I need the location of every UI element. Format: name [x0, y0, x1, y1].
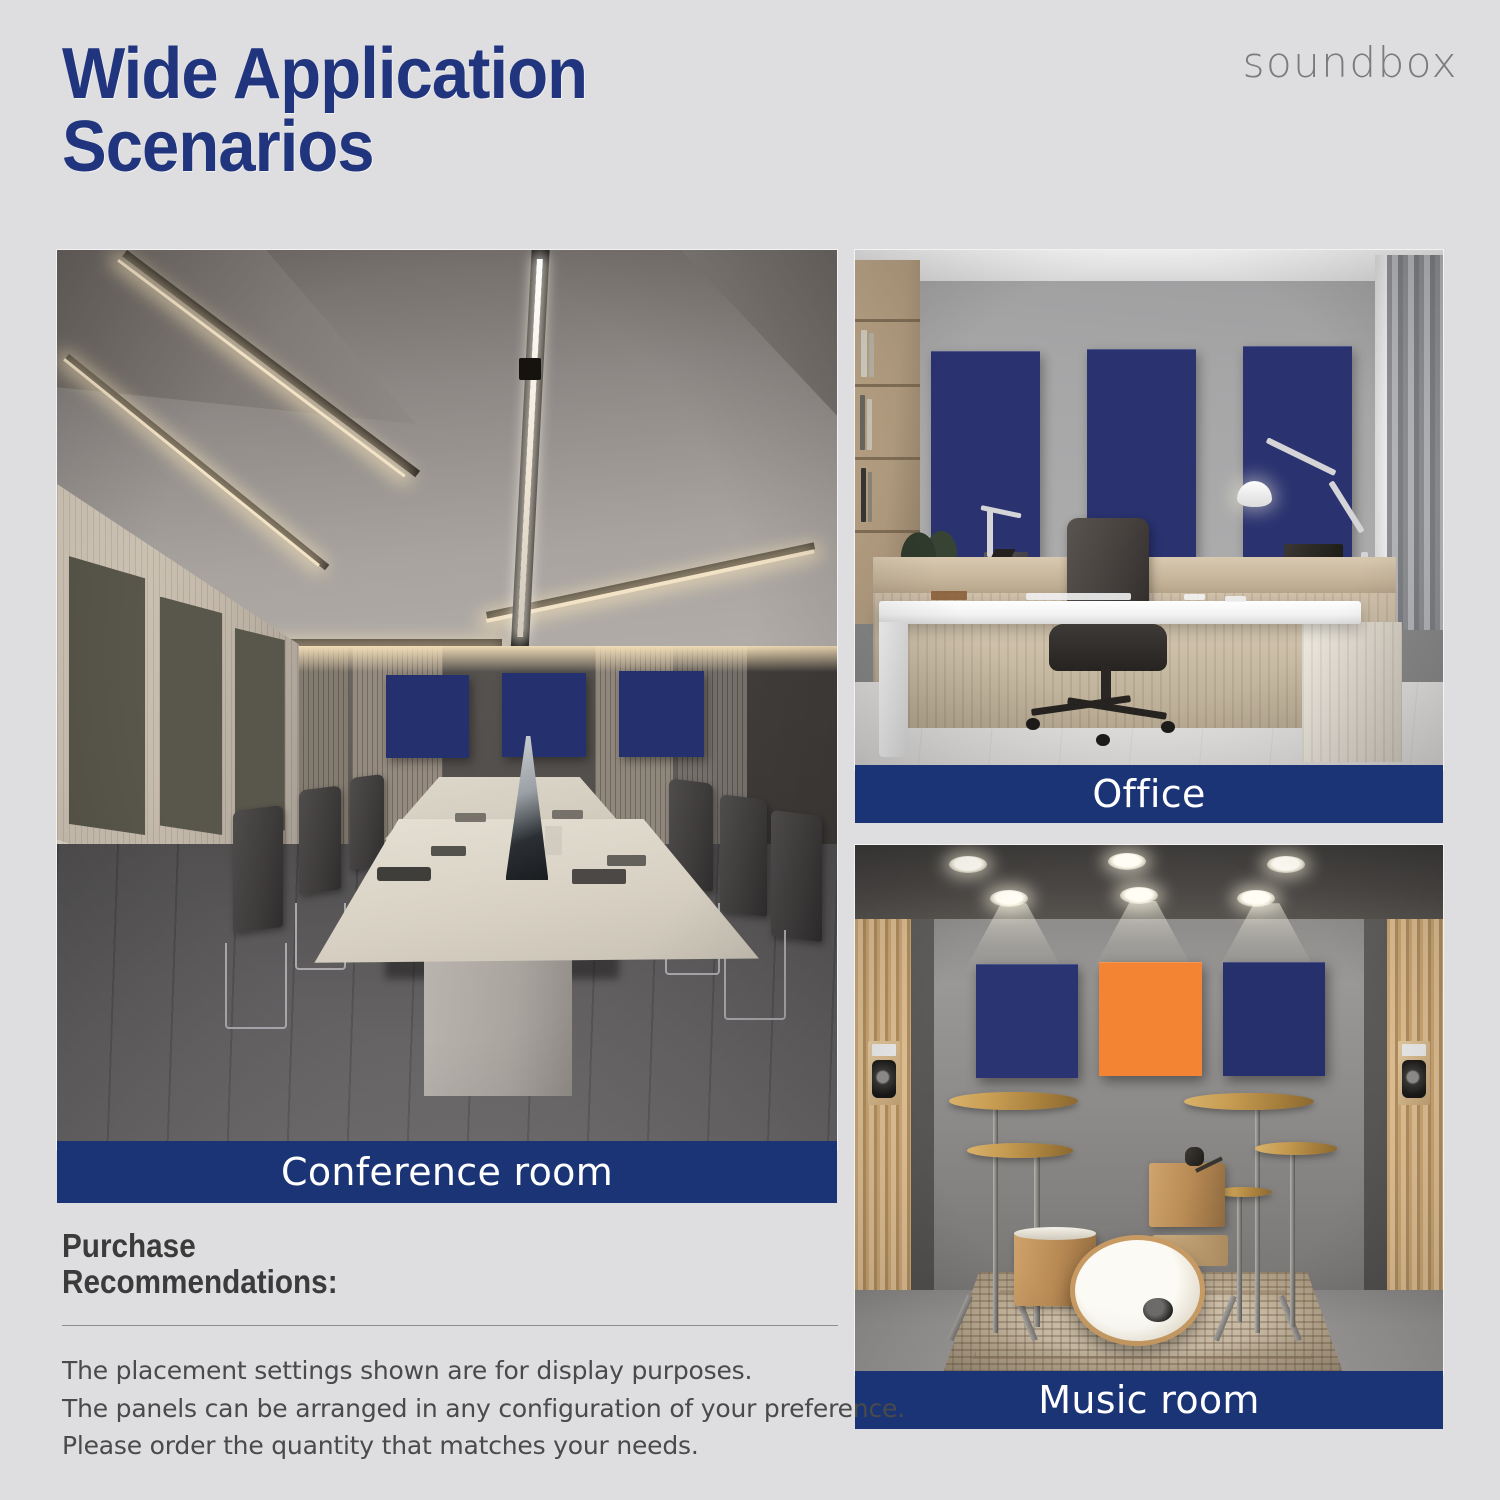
book	[861, 468, 866, 523]
page-title-line-2: Scenarios	[62, 111, 769, 184]
desk-paper	[1225, 596, 1246, 602]
office-chair-seat	[1049, 624, 1167, 671]
bass-drum	[1070, 1235, 1205, 1346]
speaker-label	[1402, 1044, 1427, 1055]
desk-item	[455, 813, 486, 822]
acoustic-panel-navy	[976, 964, 1079, 1078]
desk-return	[1302, 622, 1402, 762]
ceiling-channel	[268, 639, 502, 646]
lamp-arm	[987, 510, 993, 557]
page-title-line-1: Wide Application	[62, 38, 769, 111]
bass-drum-port	[1143, 1298, 1172, 1322]
music-room-caption: Music room	[855, 1371, 1443, 1429]
divider	[62, 1325, 838, 1326]
ceiling-downlight	[1267, 856, 1305, 873]
acoustic-panel-olive	[69, 556, 145, 835]
page-title: Wide Application Scenarios	[62, 38, 769, 185]
desk-item	[1184, 594, 1205, 600]
desk-item	[607, 855, 646, 866]
desk-item	[552, 810, 583, 819]
page-header: Wide Application Scenarios soundbox	[0, 0, 1500, 240]
speaker-label	[872, 1044, 897, 1055]
shelf-divider	[855, 384, 920, 387]
music-room-scene	[855, 845, 1443, 1375]
cymbal	[967, 1143, 1073, 1158]
conference-chair	[233, 805, 283, 933]
conference-room-scene	[57, 250, 837, 1150]
acoustic-panel-olive	[235, 628, 285, 831]
wall-speaker-right	[1398, 1041, 1430, 1105]
acoustic-panel-navy	[502, 673, 586, 757]
wall-speaker-left	[868, 1041, 900, 1105]
conference-room-image	[57, 250, 837, 1150]
book	[869, 333, 874, 377]
chair-caster	[1161, 721, 1175, 733]
desk-item	[431, 846, 466, 856]
office-caption: Office	[855, 765, 1443, 823]
speaker-cone	[1402, 1060, 1427, 1098]
book	[867, 399, 873, 450]
book	[860, 395, 865, 450]
purchase-recommendations-block: Purchase Recommendations: The placement …	[62, 1228, 852, 1465]
purchase-heading-line-1: Purchase	[62, 1228, 773, 1264]
ceiling-plane-right	[541, 250, 837, 432]
speaker-cone	[872, 1060, 897, 1098]
acoustic-panel-navy	[386, 675, 469, 758]
keyboard	[1026, 593, 1132, 600]
desk-book	[931, 591, 966, 600]
ceiling-downlight	[1108, 853, 1146, 870]
purchase-body-line-1: The placement settings shown are for dis…	[62, 1352, 852, 1390]
desk-top	[879, 601, 1361, 624]
purchase-body-text: The placement settings shown are for dis…	[62, 1352, 852, 1465]
book	[868, 472, 873, 523]
purchase-heading: Purchase Recommendations:	[62, 1228, 773, 1299]
floor-tom-head	[1014, 1227, 1096, 1240]
acoustic-panel-navy	[619, 671, 704, 757]
microphone	[1185, 1147, 1204, 1166]
ceiling	[855, 250, 1443, 281]
conference-room-caption: Conference room	[57, 1141, 837, 1203]
purchase-body-line-2: The panels can be arranged in any config…	[62, 1390, 852, 1428]
purchase-heading-line-2: Recommendations:	[62, 1264, 773, 1300]
rack-tom	[1149, 1163, 1225, 1227]
cymbal	[949, 1092, 1078, 1110]
cymbal	[1184, 1093, 1313, 1110]
shelf-divider	[855, 457, 920, 460]
office-image	[855, 250, 1443, 770]
conference-chair	[771, 809, 822, 941]
music-room-image	[855, 845, 1443, 1375]
desk-leg	[879, 622, 908, 757]
purchase-body-line-3: Please order the quantity that matches y…	[62, 1427, 852, 1465]
cymbal-stand	[1237, 1190, 1242, 1323]
cymbal-stand	[993, 1099, 998, 1332]
cymbal-stand	[1290, 1147, 1295, 1327]
conference-chair	[299, 786, 341, 896]
shelf-divider	[855, 319, 920, 322]
chair-caster	[1096, 734, 1110, 746]
acoustic-panel-navy	[1223, 962, 1326, 1076]
flower-vase	[545, 826, 562, 855]
conference-table-base	[424, 952, 572, 1096]
acoustic-panel-orange	[1099, 962, 1202, 1076]
ceiling-downlight	[949, 856, 987, 873]
laptop	[377, 867, 432, 881]
book	[861, 330, 867, 377]
chair-base	[225, 943, 287, 1029]
track-light-module	[519, 358, 541, 380]
conference-chair	[720, 794, 767, 917]
cymbal-stand	[1255, 1099, 1260, 1332]
desk-item	[572, 869, 627, 884]
office-scene	[855, 250, 1443, 770]
brand-logo: soundbox	[1243, 38, 1458, 87]
cymbal	[1255, 1142, 1337, 1155]
acoustic-panel-olive	[160, 597, 222, 836]
chair-caster	[1026, 718, 1040, 730]
